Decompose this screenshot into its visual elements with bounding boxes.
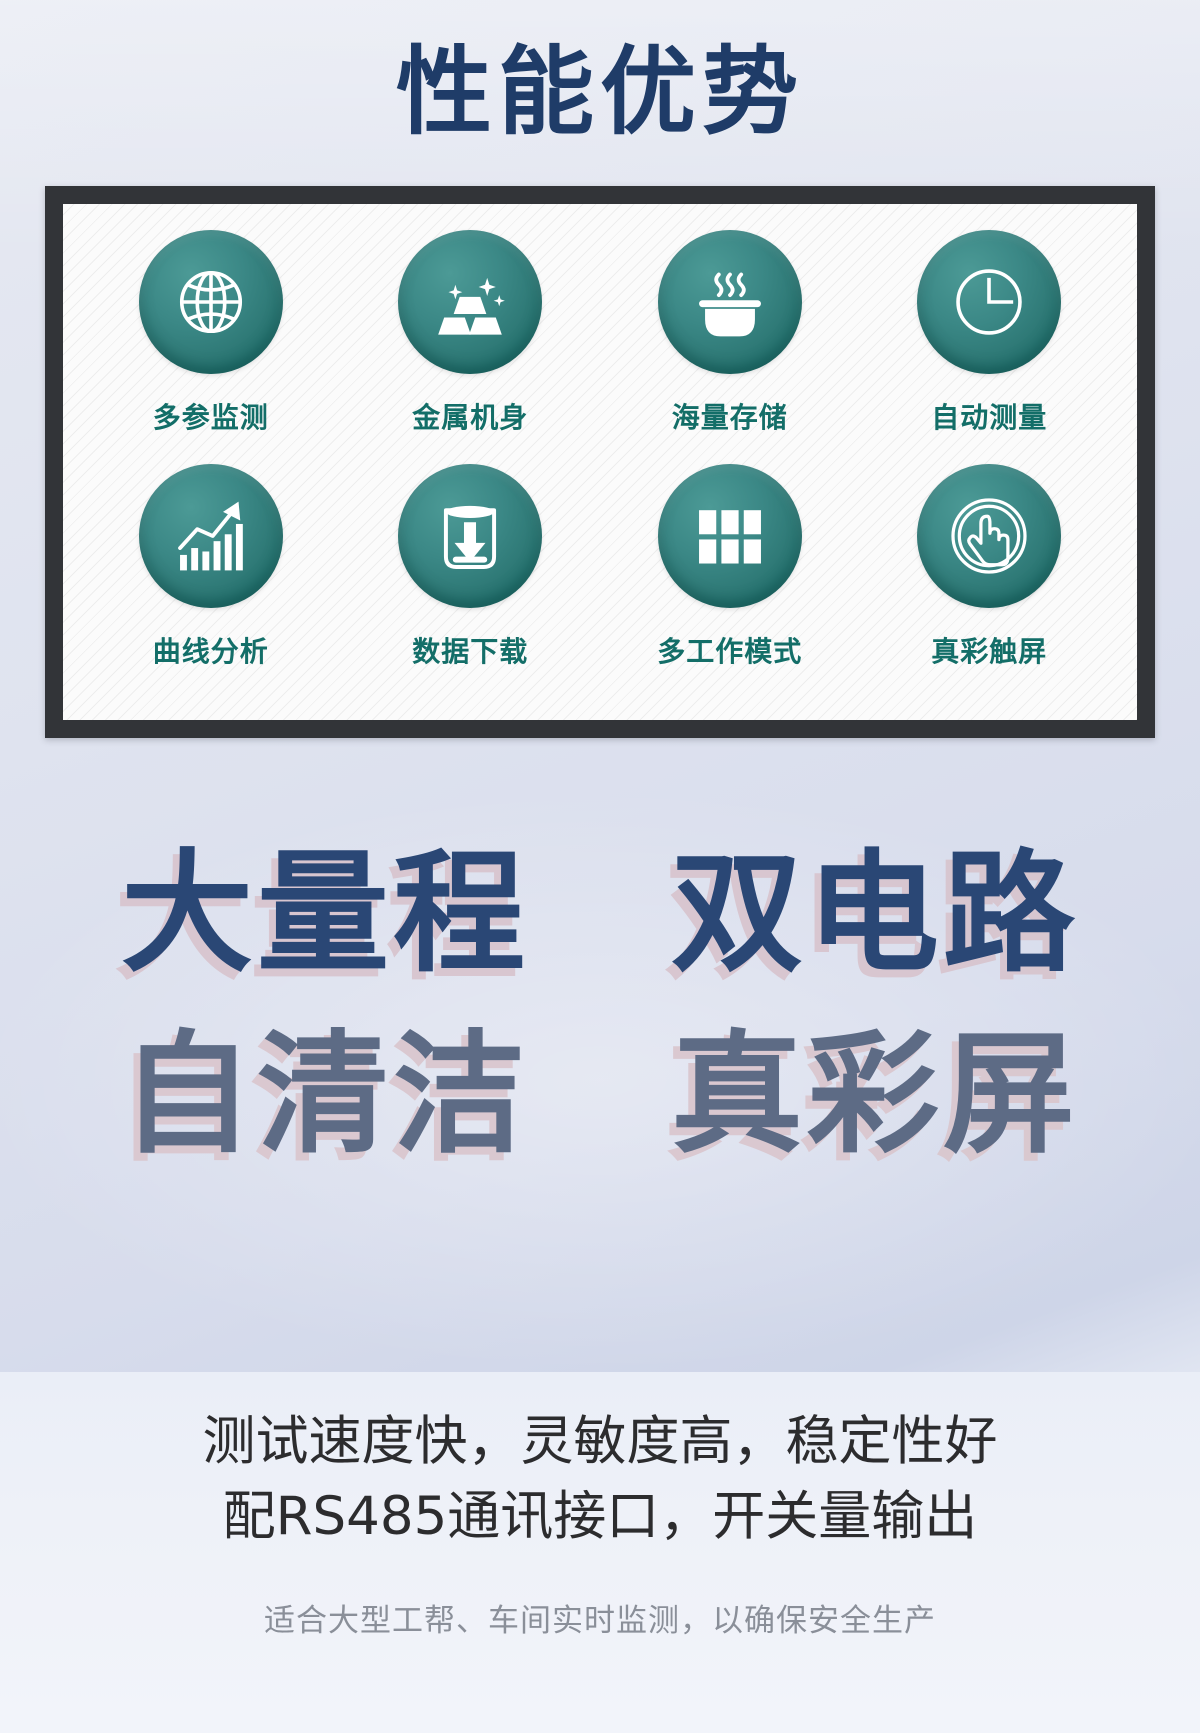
headline-line1-part2: 双电路 xyxy=(671,837,1079,991)
feature-item-auto-measure[interactable]: 自动测量 xyxy=(869,230,1109,436)
feature-item-multi-mode[interactable]: 多工作模式 xyxy=(610,464,850,670)
download-icon xyxy=(398,464,542,608)
touch-finger-icon xyxy=(917,464,1061,608)
feature-item-mass-storage[interactable]: 海量存储 xyxy=(610,230,850,436)
feature-label: 曲线分析 xyxy=(153,630,269,670)
grid-blocks-icon xyxy=(658,464,802,608)
bottom-copy-line-1: 测试速度快，灵敏度高，稳定性好 xyxy=(0,1404,1200,1479)
feature-item-metal-body[interactable]: 金属机身 xyxy=(350,230,590,436)
feature-label: 多工作模式 xyxy=(657,630,802,670)
bottom-subtext: 适合大型工帮、车间实时监测，以确保安全生产 xyxy=(0,1595,1200,1640)
feature-label: 真彩触屏 xyxy=(931,630,1047,670)
page-title: 性能优势 xyxy=(0,42,1200,143)
feature-label: 金属机身 xyxy=(412,396,528,436)
feature-item-data-download[interactable]: 数据下载 xyxy=(350,464,590,670)
steaming-pot-icon xyxy=(658,230,802,374)
feature-item-color-touchscreen[interactable]: 真彩触屏 xyxy=(869,464,1109,670)
feature-label: 海量存储 xyxy=(672,396,788,436)
bottom-copy-line-2: 配RS485通讯接口，开关量输出 xyxy=(0,1479,1200,1554)
feature-item-multi-param[interactable]: 多参监测 xyxy=(91,230,331,436)
gold-bars-icon xyxy=(398,230,542,374)
headline-line-1: 大量程 双电路 xyxy=(0,824,1200,1005)
bar-chart-trend-icon xyxy=(139,464,283,608)
bottom-copy-block: 测试速度快，灵敏度高，稳定性好 配RS485通讯接口，开关量输出 xyxy=(0,1404,1200,1555)
feature-row-2: 曲线分析 xyxy=(81,464,1119,698)
headline-line2-part2: 真彩屏 xyxy=(671,1018,1079,1172)
feature-label: 自动测量 xyxy=(931,396,1047,436)
feature-item-curve-analysis[interactable]: 曲线分析 xyxy=(91,464,331,670)
headline-line2-part1: 自清洁 xyxy=(121,1018,529,1172)
headline-line-2: 自清洁 真彩屏 xyxy=(0,1005,1200,1186)
feature-label: 数据下载 xyxy=(412,630,528,670)
clock-icon xyxy=(917,230,1061,374)
feature-label: 多参监测 xyxy=(153,396,269,436)
product-feature-page: 性能优势 xyxy=(0,0,1200,1733)
headline-line1-part1: 大量程 xyxy=(121,837,529,991)
feature-panel-frame: 多参监测 xyxy=(45,186,1155,738)
headline-block: 大量程 双电路 自清洁 真彩屏 xyxy=(0,824,1200,1186)
globe-icon xyxy=(139,230,283,374)
feature-panel-inner: 多参监测 xyxy=(63,204,1137,720)
feature-row-1: 多参监测 xyxy=(81,230,1119,464)
